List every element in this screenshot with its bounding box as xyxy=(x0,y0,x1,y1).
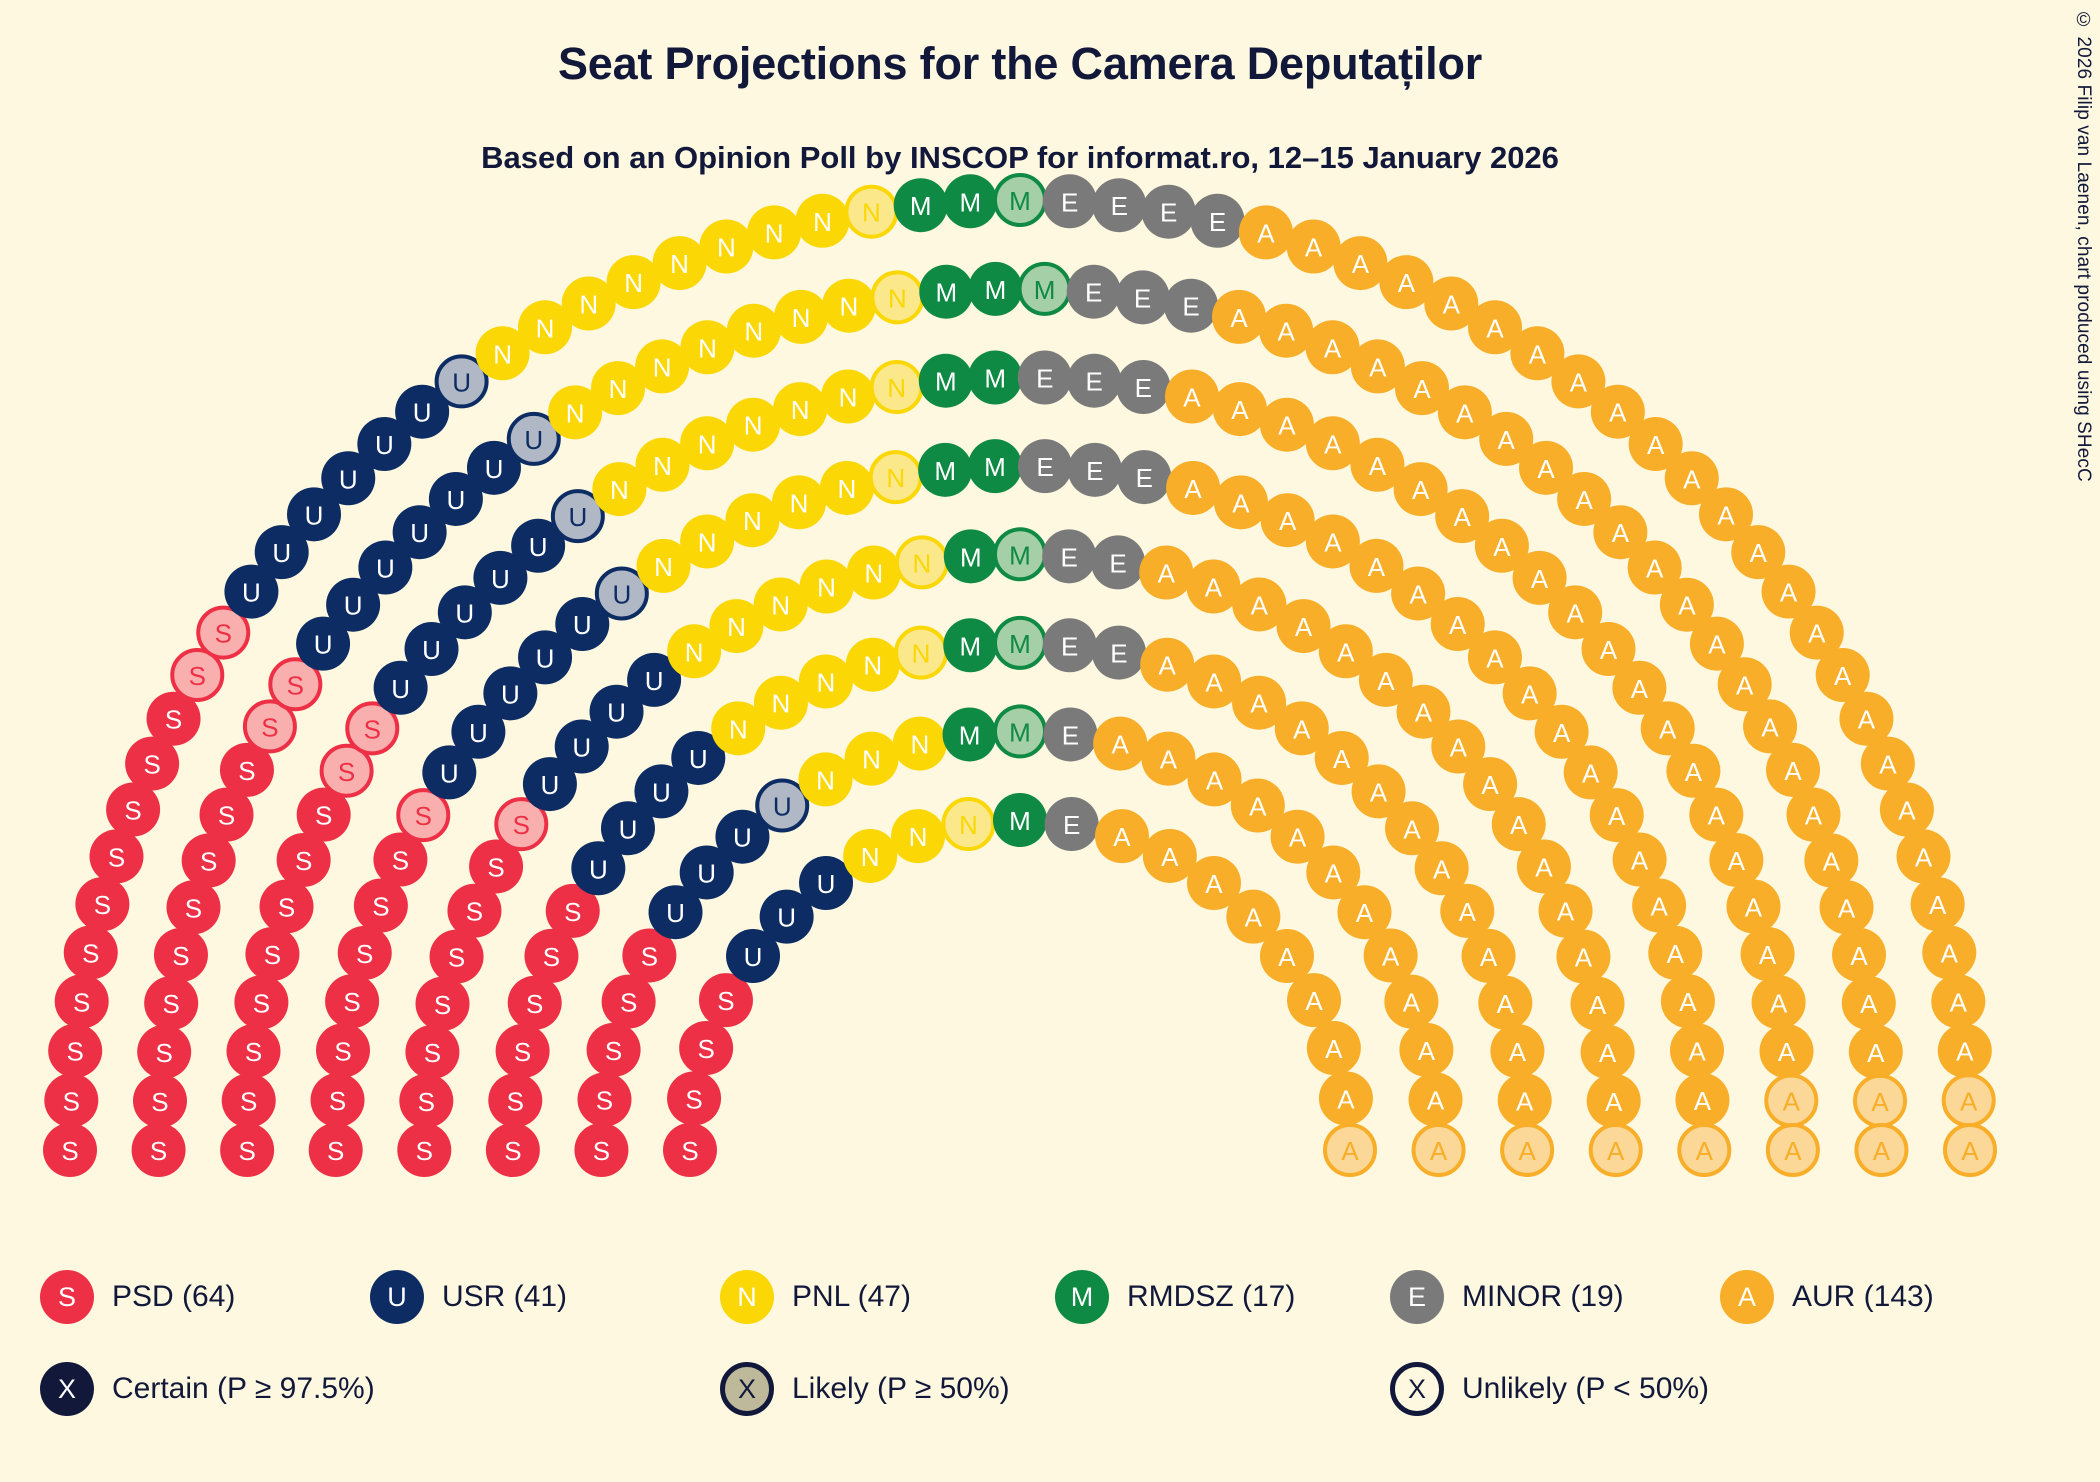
seat-circle xyxy=(154,928,208,982)
seat-circle xyxy=(1092,178,1146,232)
seat-circle xyxy=(1670,1023,1724,1077)
seat-circle xyxy=(919,354,973,408)
seat-circle xyxy=(1091,535,1145,589)
seat-circle xyxy=(1260,398,1314,452)
seat-circle xyxy=(1856,1125,1906,1175)
seat-aur: A xyxy=(1581,1025,1635,1079)
seat-pnl: N xyxy=(872,272,922,322)
seat-circle xyxy=(821,370,875,424)
seat-circle xyxy=(1067,265,1121,319)
seat-psd: S xyxy=(496,1024,550,1078)
seat-circle xyxy=(943,618,997,672)
seat-circle xyxy=(995,706,1045,756)
seat-circle xyxy=(995,618,1045,668)
legend-swatch-pnl: N xyxy=(720,1270,774,1324)
seat-aur: A xyxy=(1414,1125,1464,1175)
seat-minor: E xyxy=(1067,354,1121,408)
seat-psd: S xyxy=(222,1073,276,1127)
seat-circle xyxy=(1462,929,1516,983)
seat-aur: A xyxy=(1139,546,1193,600)
seat-circle xyxy=(1191,194,1245,248)
seat-circle xyxy=(795,194,849,248)
seat-circle xyxy=(1018,351,1072,405)
seat-minor: E xyxy=(1091,535,1145,589)
seat-minor: E xyxy=(1116,270,1170,324)
seat-pnl: N xyxy=(798,752,852,806)
seat-circle xyxy=(1364,928,1418,982)
seat-circle xyxy=(1581,1025,1635,1079)
legend-item-usr[interactable]: UUSR (41) xyxy=(370,1262,567,1332)
seat-aur: A xyxy=(1502,1125,1552,1175)
seat-aur: A xyxy=(1768,1125,1818,1175)
seat-aur: A xyxy=(1709,833,1763,887)
seat-rmdsz: M xyxy=(968,262,1022,316)
seat-rmdsz: M xyxy=(1020,264,1070,314)
legend-label-unlikely: Unlikely (P < 50%) xyxy=(1462,1372,1709,1406)
seat-psd: S xyxy=(486,1123,540,1177)
seat-circle xyxy=(1043,174,1097,228)
seat-circle xyxy=(488,1073,542,1127)
seat-psd: S xyxy=(220,1123,274,1177)
seat-minor: E xyxy=(1042,529,1096,583)
seat-rmdsz: M xyxy=(918,443,972,497)
seat-rmdsz: M xyxy=(943,707,997,761)
seat-circle xyxy=(1067,354,1121,408)
seat-circle xyxy=(943,707,997,761)
seat-circle xyxy=(1095,809,1149,863)
seat-aur: A xyxy=(1214,475,1268,529)
seat-circle xyxy=(968,439,1022,493)
seat-circle xyxy=(1399,1023,1453,1077)
seat-aur: A xyxy=(1856,1125,1906,1175)
legend-swatch-rmdsz: M xyxy=(1055,1270,1109,1324)
seat-psd: S xyxy=(311,1073,365,1127)
seat-circle xyxy=(64,925,118,979)
seat-circle xyxy=(1141,732,1195,786)
seat-psd: S xyxy=(55,974,109,1028)
seat-circle xyxy=(311,1073,365,1127)
seat-circle xyxy=(1556,930,1610,984)
seat-aur: A xyxy=(1140,638,1194,692)
seat-circle xyxy=(399,1074,453,1128)
seat-psd: S xyxy=(75,877,129,931)
seat-circle xyxy=(995,529,1045,579)
seat-circle xyxy=(1307,1021,1361,1075)
seat-pnl: N xyxy=(871,452,921,502)
seat-psd: S xyxy=(226,1024,280,1078)
seat-circle xyxy=(800,560,854,614)
seat-circle xyxy=(680,416,734,470)
seat-aur: A xyxy=(1333,236,1387,290)
seat-aur: A xyxy=(1938,1024,1992,1078)
seat-minor: E xyxy=(1067,265,1121,319)
seat-rmdsz: M xyxy=(995,706,1045,756)
seat-aur: A xyxy=(1849,1025,1903,1079)
legend-item-likely[interactable]: XLikely (P ≥ 50%) xyxy=(720,1354,1010,1424)
seat-aur: A xyxy=(1478,976,1532,1030)
seat-circle xyxy=(496,1024,550,1078)
seat-pnl: N xyxy=(680,416,734,470)
seat-rmdsz: M xyxy=(919,265,973,319)
seat-circle xyxy=(245,927,299,981)
seat-circle xyxy=(144,976,198,1030)
legend-label-likely: Likely (P ≥ 50%) xyxy=(792,1372,1010,1406)
seat-aur: A xyxy=(1462,929,1516,983)
seat-psd: S xyxy=(399,1074,453,1128)
seat-pnl: N xyxy=(795,194,849,248)
seat-circle xyxy=(1591,1125,1641,1175)
seat-circle xyxy=(919,265,973,319)
legend-label-minor: MINOR (19) xyxy=(1462,1280,1624,1314)
seat-circle xyxy=(918,443,972,497)
seat-circle xyxy=(338,926,392,980)
seat-circle xyxy=(316,1023,370,1077)
seat-psd: S xyxy=(405,1025,459,1079)
seat-minor: E xyxy=(1043,618,1097,672)
seat-circle xyxy=(1911,877,1965,931)
seat-circle xyxy=(397,1123,451,1177)
seat-circle xyxy=(847,546,901,600)
seat-aur: A xyxy=(1726,879,1780,933)
seat-circle xyxy=(1139,546,1193,600)
legend-item-rmdsz[interactable]: MRMDSZ (17) xyxy=(1055,1262,1295,1332)
seat-aur: A xyxy=(1259,304,1313,358)
legend-label-psd: PSD (64) xyxy=(112,1280,235,1314)
seat-aur: A xyxy=(1213,382,1267,436)
seat-layer: SSSSSSSSSSSSSSSSSSSSSSSSSSSSSSSSSSSSSSSS… xyxy=(43,174,1995,1177)
seat-circle xyxy=(1587,1074,1641,1128)
seat-minor: E xyxy=(1117,450,1171,504)
seat-circle xyxy=(699,220,753,274)
seat-aur: A xyxy=(1661,974,1715,1028)
seat-circle xyxy=(1093,717,1147,771)
seat-circle xyxy=(1116,270,1170,324)
seat-circle xyxy=(1325,1125,1375,1175)
seat-aur: A xyxy=(1842,976,1896,1030)
seat-rmdsz: M xyxy=(995,529,1045,579)
legend-certainty-row: XCertain (P ≥ 97.5%)XLikely (P ≥ 50%)XUn… xyxy=(0,1354,2100,1434)
seat-circle xyxy=(1164,279,1218,333)
seat-pnl: N xyxy=(799,654,853,708)
seat-aur: A xyxy=(1556,930,1610,984)
seat-psd: S xyxy=(667,1071,721,1125)
seat-circle xyxy=(354,879,408,933)
legend-swatch-usr: U xyxy=(370,1270,424,1324)
seat-minor: E xyxy=(1116,360,1170,414)
seat-aur: A xyxy=(1095,809,1149,863)
seat-circle xyxy=(846,187,896,237)
seat-aur: A xyxy=(1239,205,1293,259)
seat-pnl: N xyxy=(891,809,945,863)
seat-circle xyxy=(602,975,656,1029)
legend-item-pnl[interactable]: NPNL (47) xyxy=(720,1262,911,1332)
seat-rmdsz: M xyxy=(944,529,998,583)
seat-circle xyxy=(1842,976,1896,1030)
seat-circle xyxy=(943,174,997,228)
seat-psd: S xyxy=(587,1023,641,1077)
seat-circle xyxy=(44,1073,98,1127)
seat-psd: S xyxy=(90,829,144,883)
seat-rmdsz: M xyxy=(968,439,1022,493)
seat-circle xyxy=(872,362,922,412)
seat-circle xyxy=(508,976,562,1030)
seat-pnl: N xyxy=(821,370,875,424)
legend-item-psd[interactable]: SPSD (64) xyxy=(40,1262,235,1332)
legend-label-aur: AUR (143) xyxy=(1792,1280,1934,1314)
seat-circle xyxy=(226,1024,280,1078)
legend-item-unlikely[interactable]: XUnlikely (P < 50%) xyxy=(1390,1354,1709,1424)
seat-circle xyxy=(1648,926,1702,980)
seat-minor: E xyxy=(1043,707,1097,761)
seat-pnl: N xyxy=(727,304,781,358)
seat-circle xyxy=(1212,290,1266,344)
seat-psd: S xyxy=(166,880,220,934)
seat-circle xyxy=(1820,880,1874,934)
seat-circle xyxy=(1502,1125,1552,1175)
seat-aur: A xyxy=(1648,926,1702,980)
seat-circle xyxy=(1760,1024,1814,1078)
seat-circle xyxy=(1213,382,1267,436)
seat-psd: S xyxy=(234,975,288,1029)
seat-circle xyxy=(1944,1075,1994,1125)
seat-minor: E xyxy=(1191,194,1245,248)
seat-pnl: N xyxy=(747,205,801,259)
seat-pnl: N xyxy=(846,638,900,692)
seat-psd: S xyxy=(260,879,314,933)
legend-swatch-unlikely: X xyxy=(1390,1362,1444,1416)
seat-psd: S xyxy=(133,1074,187,1128)
seat-aur: A xyxy=(1166,461,1220,515)
seat-circle xyxy=(653,236,707,290)
seat-circle xyxy=(1832,928,1886,982)
seat-circle xyxy=(325,974,379,1028)
seat-circle xyxy=(1897,829,1951,883)
seat-circle xyxy=(757,781,807,831)
seat-circle xyxy=(1675,1073,1729,1127)
seat-circle xyxy=(1922,925,1976,979)
seat-psd: S xyxy=(44,1073,98,1127)
seat-psd: S xyxy=(416,977,470,1031)
seat-aur: A xyxy=(1409,1073,1463,1127)
seat-circle xyxy=(968,262,1022,316)
seat-circle xyxy=(1165,370,1219,424)
seat-circle xyxy=(1490,1024,1544,1078)
seat-aur: A xyxy=(1880,783,1934,837)
seat-psd: S xyxy=(64,925,118,979)
seat-circle xyxy=(1409,1073,1463,1127)
seat-rmdsz: M xyxy=(995,618,1045,668)
seat-psd: S xyxy=(137,1025,191,1079)
seat-circle xyxy=(679,1021,733,1075)
seat-aur: A xyxy=(1741,927,1795,981)
seat-pnl: N xyxy=(774,290,828,344)
seat-circle xyxy=(773,382,827,436)
seat-aur: A xyxy=(1319,1071,1373,1125)
seat-pnl: N xyxy=(773,382,827,436)
seat-usr: U xyxy=(757,781,807,831)
seat-minor: E xyxy=(1164,279,1218,333)
seat-circle xyxy=(725,493,779,547)
seat-pnl: N xyxy=(872,362,922,412)
seat-circle xyxy=(943,799,993,849)
seat-circle xyxy=(1498,1073,1552,1127)
legend-swatch-minor: E xyxy=(1390,1270,1444,1324)
seat-psd: S xyxy=(508,976,562,1030)
seat-psd: S xyxy=(325,974,379,1028)
seat-circle xyxy=(1849,1025,1903,1079)
seat-pnl: N xyxy=(607,255,661,309)
seat-rmdsz: M xyxy=(968,351,1022,405)
seat-circle xyxy=(574,1123,628,1177)
seat-aur: A xyxy=(1141,732,1195,786)
hemicycle-seating-diagram: SSSSSSSSSSSSSSSSSSSSSSSSSSSSSSSSSSSSSSSS… xyxy=(0,150,2040,1260)
seat-psd: S xyxy=(338,926,392,980)
seat-circle xyxy=(820,461,874,515)
seat-aur: A xyxy=(1855,1076,1905,1126)
seat-circle xyxy=(772,475,826,529)
seat-circle xyxy=(587,1023,641,1077)
legend-item-aur[interactable]: AAUR (143) xyxy=(1720,1262,1934,1332)
seat-psd: S xyxy=(354,879,408,933)
seat-circle xyxy=(1679,1125,1729,1175)
seat-circle xyxy=(1140,638,1194,692)
seat-psd: S xyxy=(309,1123,363,1177)
seat-aur: A xyxy=(1212,290,1266,344)
legend-swatch-likely: X xyxy=(720,1362,774,1416)
seat-aur: A xyxy=(1675,1073,1729,1127)
seat-circle xyxy=(1768,1125,1818,1175)
seat-pnl: N xyxy=(846,187,896,237)
seat-aur: A xyxy=(1591,1125,1641,1175)
seat-aur: A xyxy=(1632,879,1686,933)
seat-circle xyxy=(872,272,922,322)
seat-circle xyxy=(1752,975,1806,1029)
seat-circle xyxy=(896,628,946,678)
seat-aur: A xyxy=(1820,880,1874,934)
seat-circle xyxy=(680,320,734,374)
seat-pnl: N xyxy=(726,398,780,452)
seat-circle xyxy=(1142,185,1196,239)
hemicycle-chart: Seat Projections for the Camera Deputați… xyxy=(0,0,2100,1479)
seat-psd: S xyxy=(397,1123,451,1177)
seat-aur: A xyxy=(1945,1125,1995,1175)
seat-aur: A xyxy=(1093,717,1147,771)
seat-aur: A xyxy=(1490,1024,1544,1078)
seat-aur: A xyxy=(1287,220,1341,274)
legend-label-rmdsz: RMDSZ (17) xyxy=(1127,1280,1295,1314)
seat-psd: S xyxy=(106,783,160,837)
seat-circle xyxy=(1880,783,1934,837)
seat-circle xyxy=(1287,973,1341,1027)
seat-circle xyxy=(1931,974,1985,1028)
seat-circle xyxy=(1319,1071,1373,1125)
seat-circle xyxy=(48,1024,102,1078)
seat-aur: A xyxy=(1570,977,1624,1031)
seat-psd: S xyxy=(43,1123,97,1177)
seat-minor: E xyxy=(1092,626,1146,680)
seat-rmdsz: M xyxy=(993,793,1047,847)
legend-label-usr: USR (41) xyxy=(442,1280,567,1314)
seat-psd: S xyxy=(316,1023,370,1077)
seat-circle xyxy=(405,1025,459,1079)
seat-aur: A xyxy=(1384,975,1438,1029)
legend-label-certain: Certain (P ≥ 97.5%) xyxy=(112,1372,375,1406)
seat-pnl: N xyxy=(847,546,901,600)
seat-circle xyxy=(1478,976,1532,1030)
seat-aur: A xyxy=(1832,928,1886,982)
seat-circle xyxy=(1045,797,1099,851)
seat-circle xyxy=(260,879,314,933)
seat-psd: S xyxy=(577,1073,631,1127)
seat-aur: A xyxy=(1287,973,1341,1027)
seat-aur: A xyxy=(1861,737,1915,791)
seat-aur: A xyxy=(1804,834,1858,888)
legend-swatch-psd: S xyxy=(40,1270,94,1324)
seat-circle xyxy=(995,175,1045,225)
seat-circle xyxy=(1214,475,1268,529)
legend-item-certain[interactable]: XCertain (P ≥ 97.5%) xyxy=(40,1354,375,1424)
seat-aur: A xyxy=(1760,1024,1814,1078)
seat-psd: S xyxy=(154,928,208,982)
legend-swatch-aur: A xyxy=(1720,1270,1774,1324)
seat-aur: A xyxy=(1498,1073,1552,1127)
seat-circle xyxy=(968,351,1022,405)
seat-circle xyxy=(891,809,945,863)
legend-item-minor[interactable]: EMINOR (19) xyxy=(1390,1262,1624,1332)
seat-circle xyxy=(1259,304,1313,358)
seat-aur: A xyxy=(1399,1023,1453,1077)
seat-psd: S xyxy=(488,1073,542,1127)
copyright-notice: © 2026 Filip van Laenen, chart produced … xyxy=(2054,10,2094,710)
seat-psd: S xyxy=(132,1123,186,1177)
seat-circle xyxy=(1333,236,1387,290)
seat-circle xyxy=(1043,707,1097,761)
seat-psd: S xyxy=(574,1123,628,1177)
seat-pnl: N xyxy=(653,236,707,290)
seat-psd: S xyxy=(48,1024,102,1078)
seat-circle xyxy=(1570,977,1624,1031)
seat-circle xyxy=(607,255,661,309)
seat-circle xyxy=(1043,618,1097,672)
seat-psd: S xyxy=(679,1021,733,1075)
seat-aur: A xyxy=(1670,1023,1724,1077)
seat-circle xyxy=(897,537,947,587)
seat-circle xyxy=(166,880,220,934)
seat-circle xyxy=(1117,450,1171,504)
seat-circle xyxy=(726,398,780,452)
seat-circle xyxy=(1741,927,1795,981)
seat-circle xyxy=(1092,626,1146,680)
legend-party-row: SPSD (64)UUSR (41)NPNL (47)MRMDSZ (17)EM… xyxy=(0,1262,2100,1342)
seat-circle xyxy=(132,1123,186,1177)
seat-circle xyxy=(871,452,921,502)
seat-circle xyxy=(843,829,897,883)
seat-pnl: N xyxy=(725,493,779,547)
seat-pnl: N xyxy=(897,537,947,587)
seat-circle xyxy=(106,783,160,837)
seat-circle xyxy=(845,732,899,786)
seat-aur: A xyxy=(1922,925,1976,979)
page-title: Seat Projections for the Camera Deputați… xyxy=(0,38,2040,90)
seat-circle xyxy=(1766,1075,1816,1125)
seat-minor: E xyxy=(1142,185,1196,239)
seat-pnl: N xyxy=(699,220,753,274)
seat-psd: S xyxy=(144,976,198,1030)
seat-pnl: N xyxy=(680,320,734,374)
seat-circle xyxy=(774,290,828,344)
seat-circle xyxy=(1239,205,1293,259)
seat-circle xyxy=(309,1123,363,1177)
